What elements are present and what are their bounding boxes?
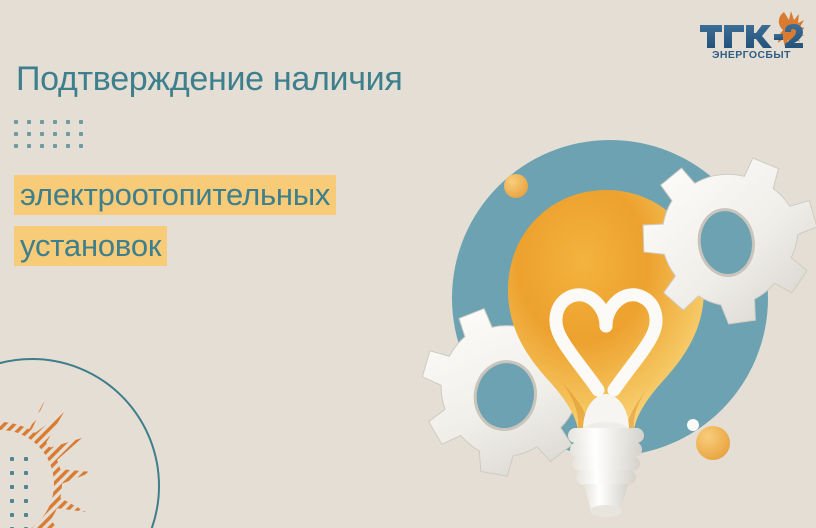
subtitle-block: электроотопительных установок [14,175,484,266]
dot [24,513,28,517]
dot [53,144,57,148]
brand-logo[interactable]: ЭНЕРГОСБЫТ [692,8,804,60]
dot [53,132,57,136]
dot [10,485,14,489]
page-title: Подтверждение наличия [16,60,402,99]
dot [14,144,18,148]
brand-logo-svg: ЭНЕРГОСБЫТ [692,8,804,60]
dot [79,132,83,136]
dot [40,132,44,136]
dot [79,120,83,124]
subtitle-line-1: электроотопительных [14,175,336,215]
dot [10,457,14,461]
dot [40,144,44,148]
dot [24,457,28,461]
dot [14,132,18,136]
sphere-orange-bottom [696,426,730,460]
dot [53,120,57,124]
dot [24,471,28,475]
sphere-orange-top [504,174,528,198]
brand-tagline-mark: ЭНЕРГОСБЫТ [712,49,791,60]
dot [10,471,14,475]
dot-grid-corner [6,452,34,528]
dot [40,120,44,124]
dot [66,144,70,148]
dot [27,120,31,124]
dot [14,120,18,124]
dot [10,513,14,517]
dot [24,499,28,503]
brand-tagline-text: ЭНЕРГОСБЫТ [712,49,791,60]
dot [79,144,83,148]
bulb-screw-base [568,428,644,517]
dot [66,120,70,124]
dot [27,132,31,136]
dot [66,132,70,136]
dot [27,144,31,148]
sphere-white-small [687,419,699,431]
dot [24,485,28,489]
poster-canvas: Подтверждение наличия электроотопительны… [0,0,816,528]
subtitle-line-2: установок [14,226,167,266]
dot [10,499,14,503]
dot-grid-header [14,120,92,156]
